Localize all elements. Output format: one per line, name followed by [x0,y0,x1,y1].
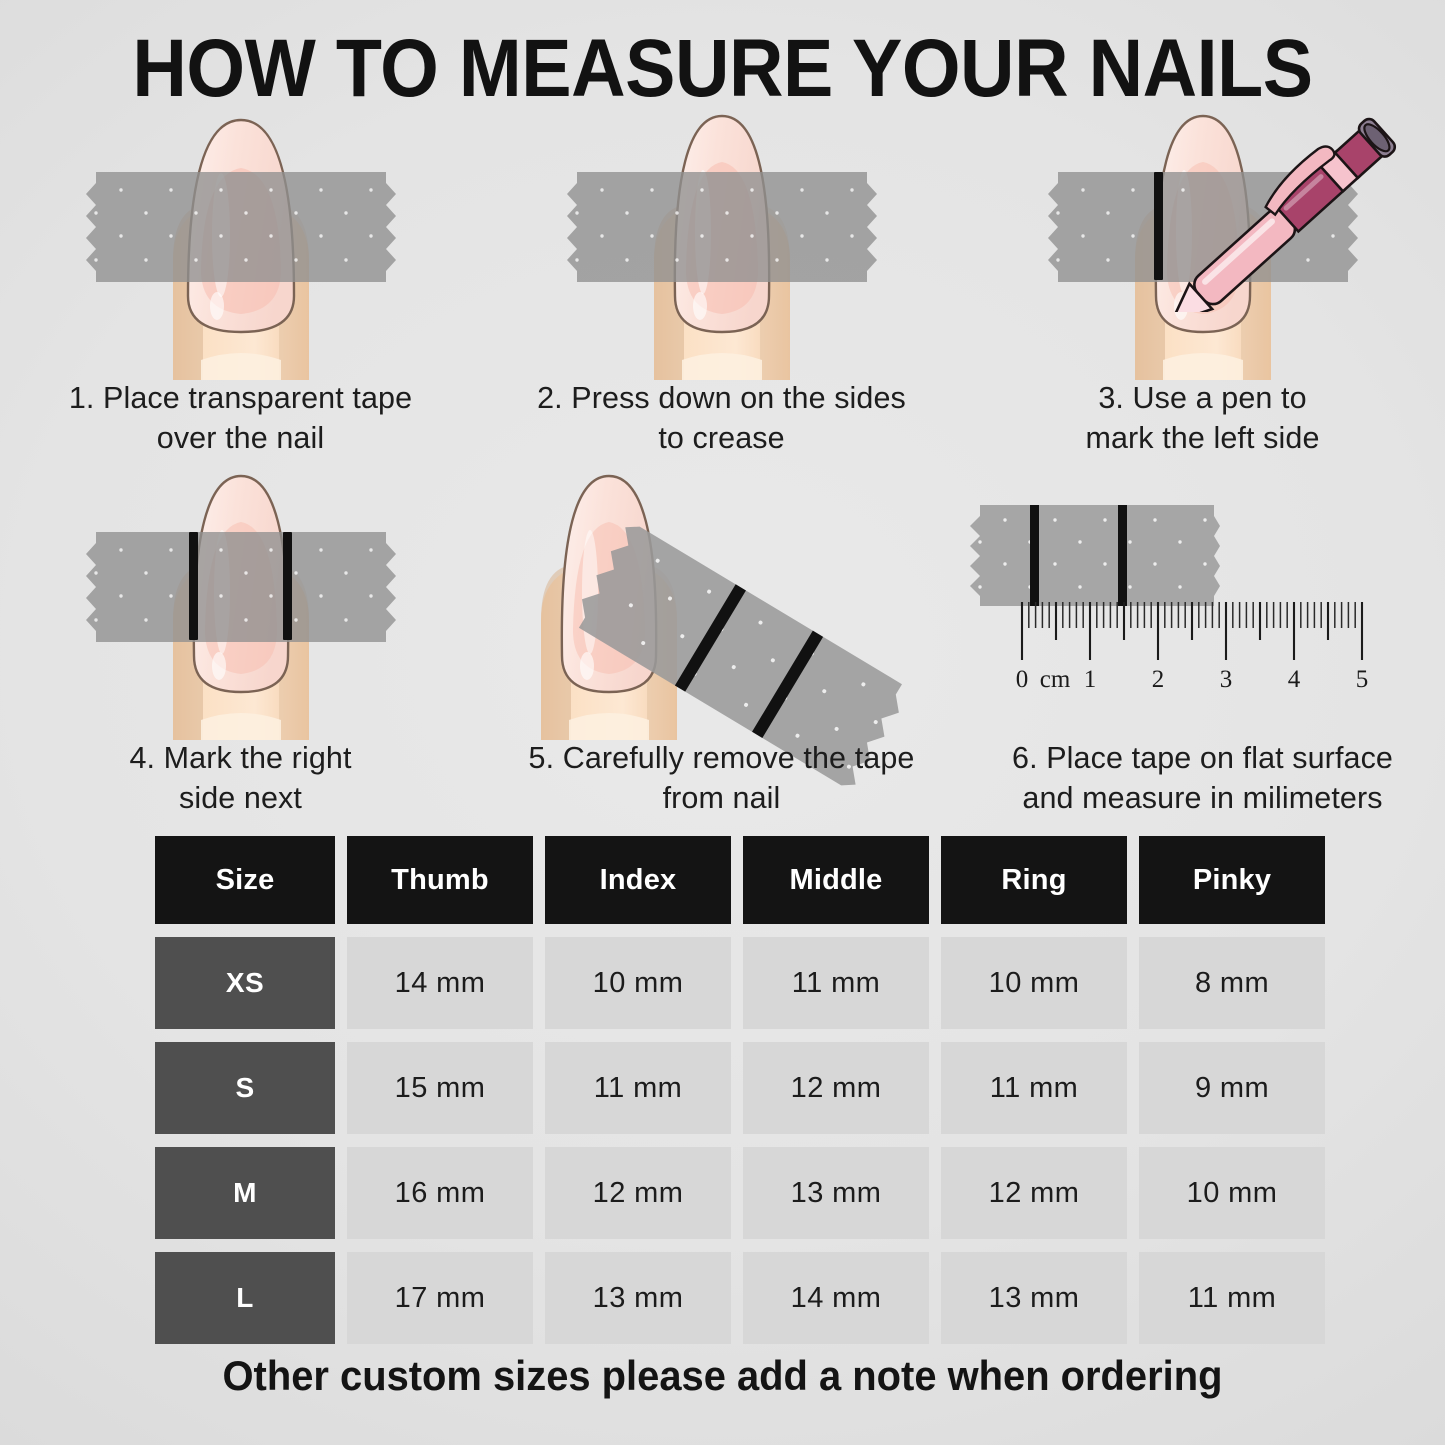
step-1-caption-line2: over the nail [10,418,471,458]
step-2-caption: 2. Press down on the sides to crease [491,378,952,458]
steps-row-1: 1. Place transparent tape over the nail [0,110,1445,462]
cell-m-pinky: 10 mm [1139,1147,1325,1239]
step-3-illustration [962,110,1443,380]
infographic-page: HOW TO MEASURE YOUR NAILS [0,0,1445,1445]
cell-l-pinky: 11 mm [1139,1252,1325,1344]
size-label-l: L [155,1252,335,1344]
pen-mark-left [189,532,198,640]
step-1-caption-line1: 1. Place transparent tape [10,378,471,418]
tape-on-ruler: 0 cm 1 2 3 4 5 [962,470,1443,740]
footer-note: Other custom sizes please add a note whe… [36,1352,1409,1400]
step-6: 0 cm 1 2 3 4 5 6. Place tape on flat sur… [962,470,1443,822]
cell-xs-thumb: 14 mm [347,937,533,1029]
ruler-label-4: 4 [1274,666,1314,694]
pen-mark-right [283,532,292,640]
steps-row-2: 4. Mark the right side next [0,470,1445,822]
size-label-xs: XS [155,937,335,1029]
step-3: 3. Use a pen to mark the left side [962,110,1443,462]
step-2-caption-line1: 2. Press down on the sides [491,378,952,418]
step-6-illustration: 0 cm 1 2 3 4 5 [962,470,1443,740]
page-title: HOW TO MEASURE YOUR NAILS [58,22,1387,116]
table-header-middle: Middle [743,836,929,924]
step-5-caption-line2: from nail [491,778,952,818]
pen-icon [1158,112,1428,312]
step-6-caption-line2: and measure in milimeters [972,778,1433,818]
ruler-label-1: 1 [1070,666,1110,694]
step-6-caption: 6. Place tape on flat surface and measur… [972,738,1433,818]
steps-grid: 1. Place transparent tape over the nail [0,110,1445,822]
step-2-caption-line2: to crease [491,418,952,458]
table-header-row: Size Thumb Index Middle Ring Pinky [155,836,1323,924]
step-2: 2. Press down on the sides to crease [481,110,962,462]
step-4-caption-line1: 4. Mark the right [10,738,471,778]
cell-xs-ring: 10 mm [941,937,1127,1029]
table-header-size: Size [155,836,335,924]
cell-s-index: 11 mm [545,1042,731,1134]
step-1: 1. Place transparent tape over the nail [0,110,481,462]
cell-l-ring: 13 mm [941,1252,1127,1344]
step-4-caption-line2: side next [10,778,471,818]
cell-s-thumb: 15 mm [347,1042,533,1134]
cell-s-middle: 12 mm [743,1042,929,1134]
tape-strip [86,168,396,286]
step-5: 5. Carefully remove the tape from nail [481,470,962,822]
step-3-caption-line1: 3. Use a pen to [972,378,1433,418]
cell-m-thumb: 16 mm [347,1147,533,1239]
ruler-icon [1020,602,1400,664]
cell-s-ring: 11 mm [941,1042,1127,1134]
table-header-index: Index [545,836,731,924]
table-header-thumb: Thumb [347,836,533,924]
ruler-label-2: 2 [1138,666,1178,694]
table-header-ring: Ring [941,836,1127,924]
step-3-caption: 3. Use a pen to mark the left side [972,378,1433,458]
cell-s-pinky: 9 mm [1139,1042,1325,1134]
ruler-label-5: 5 [1342,666,1382,694]
table-row: M 16 mm 12 mm 13 mm 12 mm 10 mm [155,1147,1323,1239]
step-4-caption: 4. Mark the right side next [10,738,471,818]
tape-strip [970,502,1220,612]
cell-l-index: 13 mm [545,1252,731,1344]
tape-strip [86,528,396,646]
step-4-illustration [0,470,481,740]
tape-strip [567,168,877,286]
ruler-unit-label: cm [1035,666,1075,694]
step-3-caption-line2: mark the left side [972,418,1433,458]
step-5-caption: 5. Carefully remove the tape from nail [491,738,952,818]
cell-m-ring: 12 mm [941,1147,1127,1239]
step-1-illustration [0,110,481,380]
table-row: XS 14 mm 10 mm 11 mm 10 mm 8 mm [155,937,1323,1029]
cell-l-thumb: 17 mm [347,1252,533,1344]
size-table: Size Thumb Index Middle Ring Pinky XS 14… [155,836,1323,1357]
step-4: 4. Mark the right side next [0,470,481,822]
table-header-pinky: Pinky [1139,836,1325,924]
table-row: S 15 mm 11 mm 12 mm 11 mm 9 mm [155,1042,1323,1134]
cell-m-middle: 13 mm [743,1147,929,1239]
ruler-label-3: 3 [1206,666,1246,694]
cell-xs-middle: 11 mm [743,937,929,1029]
cell-xs-pinky: 8 mm [1139,937,1325,1029]
step-6-caption-line1: 6. Place tape on flat surface [972,738,1433,778]
step-2-illustration [481,110,962,380]
cell-m-index: 12 mm [545,1147,731,1239]
size-label-m: M [155,1147,335,1239]
cell-l-middle: 14 mm [743,1252,929,1344]
step-5-illustration [481,470,962,740]
step-1-caption: 1. Place transparent tape over the nail [10,378,471,458]
size-label-s: S [155,1042,335,1134]
cell-xs-index: 10 mm [545,937,731,1029]
step-5-caption-line1: 5. Carefully remove the tape [491,738,952,778]
table-row: L 17 mm 13 mm 14 mm 13 mm 11 mm [155,1252,1323,1344]
